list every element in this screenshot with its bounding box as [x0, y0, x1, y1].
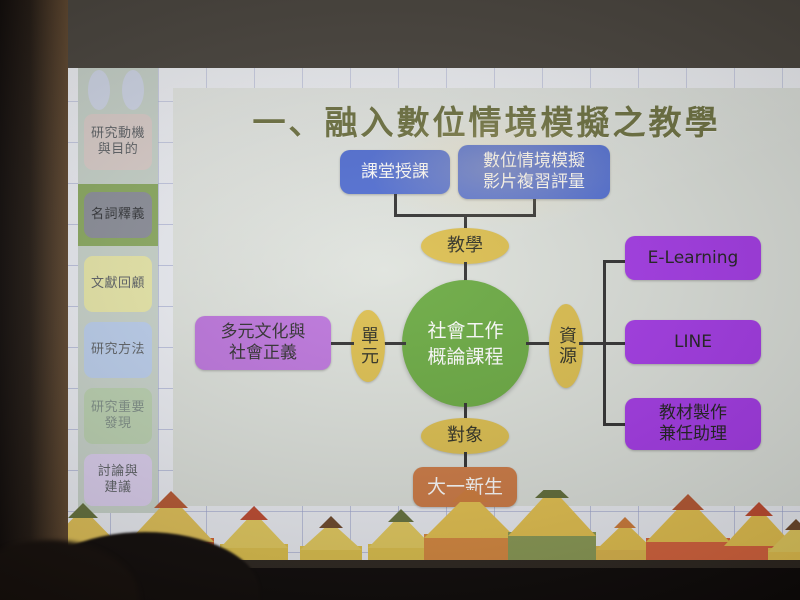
node-label: E-Learning [648, 248, 739, 269]
hub-label: 資源 [556, 326, 576, 366]
sidebar-item-label: 名詞釋義 [91, 207, 145, 223]
resource-node-elearning[interactable]: E-Learning [625, 236, 761, 280]
sidebar-item-research-motivation[interactable]: 研究動機 與目的 [84, 114, 152, 170]
center-node-label: 社會工作 概論課程 [427, 318, 503, 370]
center-node-course[interactable]: 社會工作 概論課程 [402, 280, 529, 407]
resource-node-teaching-materials[interactable]: 教材製作 兼任助理 [625, 398, 761, 450]
sidebar-item-research-method[interactable]: 研究方法 [84, 322, 152, 378]
connector-resource-to-elearning [603, 260, 627, 263]
node-label: 教材製作 兼任助理 [659, 403, 727, 445]
room-wall-top [68, 0, 800, 68]
resource-node-line[interactable]: LINE [625, 320, 761, 364]
room-wall-left-highlight [30, 0, 68, 600]
hub-unit[interactable]: 單元 [351, 310, 385, 382]
sidebar-item-label: 研究重要 發現 [91, 400, 145, 432]
node-label: LINE [674, 332, 712, 353]
sidebar-item-key-findings[interactable]: 研究重要 發現 [84, 388, 152, 444]
sidebar-item-label: 研究方法 [91, 342, 145, 358]
pencil-9 [646, 496, 730, 568]
unit-node-multiculture-justice[interactable]: 多元文化與 社會正義 [195, 316, 331, 370]
connector-resource-to-line [603, 342, 627, 345]
connector-resource-to-materials [603, 423, 627, 426]
screenshot-stage: 研究動機 與目的 名詞釋義 文獻回顧 研究方法 研究重要 發現 討論與 建議 一… [0, 0, 800, 600]
hub-label: 單元 [358, 326, 378, 366]
sidebar-item-term-definition[interactable]: 名詞釋義 [84, 192, 152, 238]
hub-label: 對象 [447, 426, 483, 446]
hub-teaching[interactable]: 教學 [421, 228, 509, 264]
slide-sidebar: 研究動機 與目的 名詞釋義 文獻回顧 研究方法 研究重要 發現 討論與 建議 [78, 68, 158, 513]
connector-resource-stem [579, 342, 605, 345]
hub-resource[interactable]: 資源 [549, 304, 583, 388]
pencil-7 [508, 490, 596, 568]
node-label: 多元文化與 社會正義 [221, 322, 306, 364]
sidebar-item-label: 研究動機 與目的 [91, 126, 145, 158]
sidebar-decoration-ellipse-2 [122, 70, 144, 110]
sidebar-item-literature-review[interactable]: 文獻回顧 [84, 256, 152, 312]
pencil-6 [424, 492, 516, 568]
connector-unit-to-left-node [328, 342, 354, 345]
projected-slide: 研究動機 與目的 名詞釋義 文獻回顧 研究方法 研究重要 發現 討論與 建議 一… [68, 68, 800, 568]
sidebar-item-label: 文獻回顧 [91, 276, 145, 292]
projector-hotspot [368, 108, 628, 228]
sidebar-decoration-ellipse-1 [88, 70, 110, 110]
hub-label: 教學 [447, 236, 483, 256]
hub-audience[interactable]: 對象 [421, 418, 509, 454]
